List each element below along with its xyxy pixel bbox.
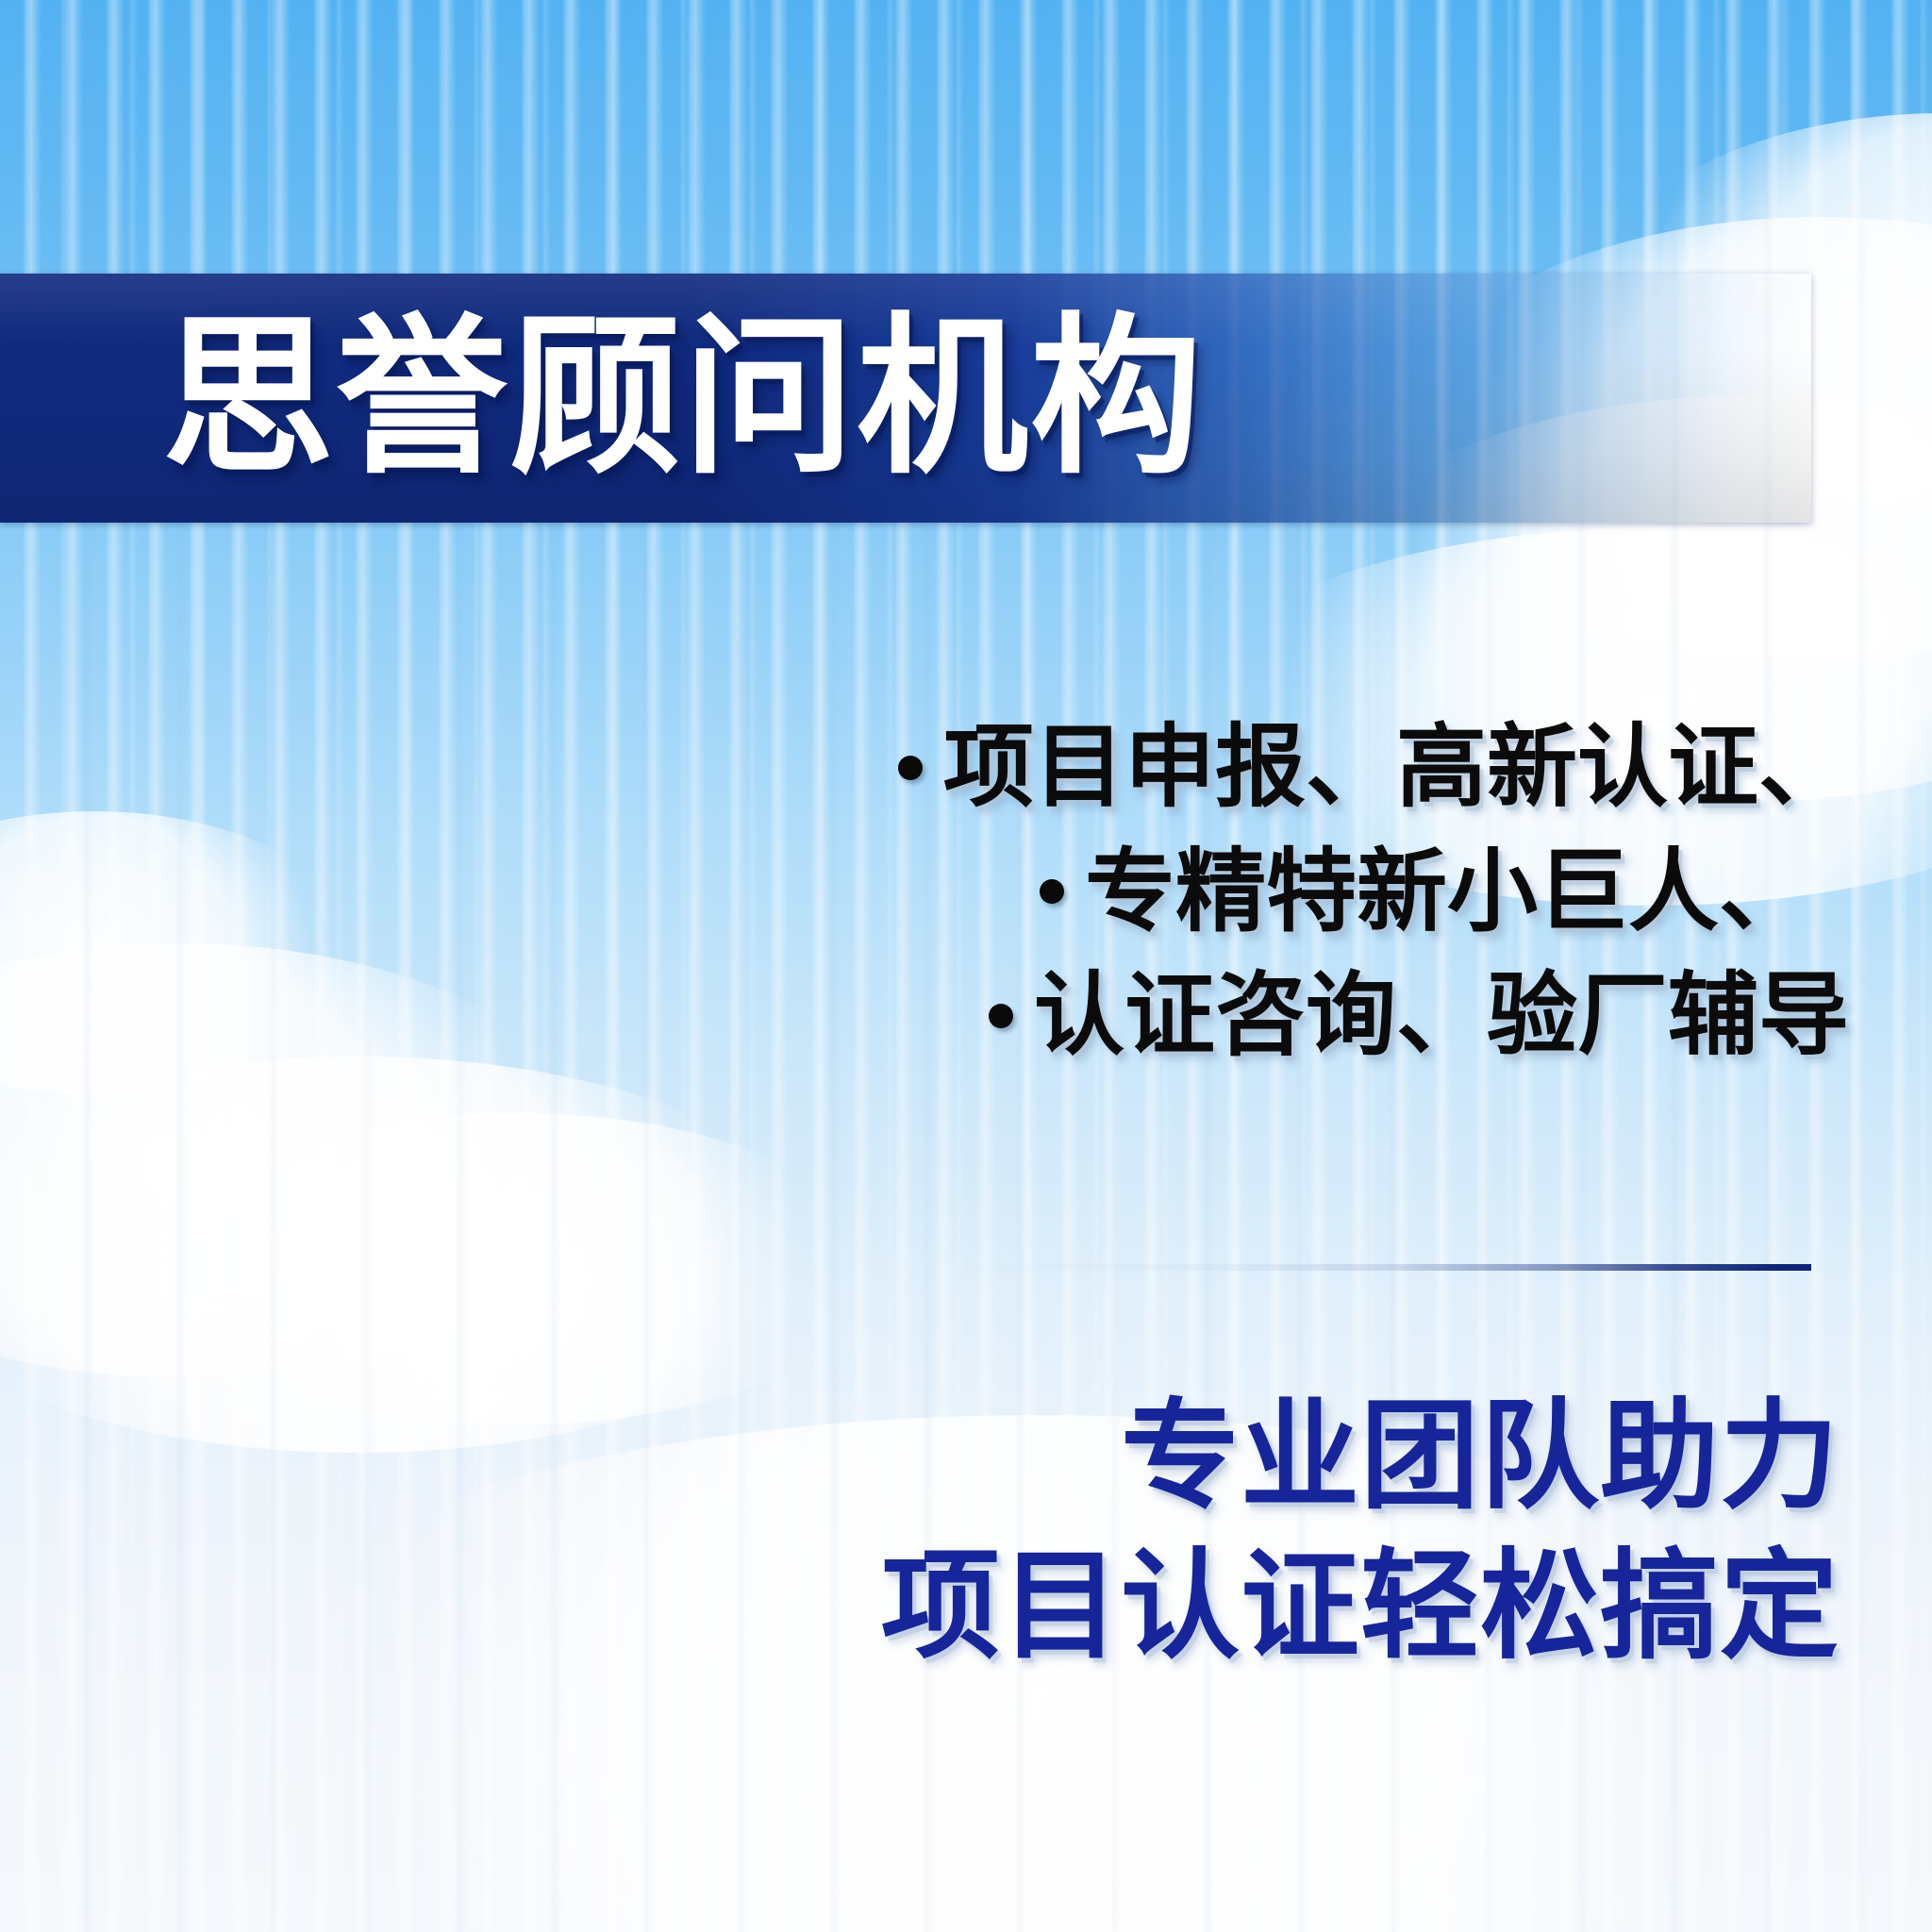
list-item-label: 项目申报、高新认证、 <box>943 717 1849 819</box>
list-item-label: 认证咨询、验厂辅导 <box>1034 965 1849 1067</box>
service-list: 项目申报、高新认证、 专精特新小巨人、 认证咨询、验厂辅导 <box>717 717 1849 1067</box>
cloud-shape <box>160 1113 877 1424</box>
cloud-shape <box>0 811 358 1094</box>
bullet-dot-icon <box>898 756 923 780</box>
slogan-line-2: 项目认证轻松搞定 <box>881 1532 1840 1682</box>
slogan-line-1: 专业团队助力 <box>1121 1382 1840 1532</box>
page-title: 思誉顾问机构 <box>162 279 1294 515</box>
poster-canvas: 思誉顾问机构 项目申报、高新认证、 专精特新小巨人、 认证咨询、验厂辅导 专业团… <box>0 0 1932 1932</box>
slogan-block: 专业团队助力 项目认证轻松搞定 <box>660 1382 1840 1682</box>
bullet-dot-icon <box>1040 879 1064 904</box>
divider <box>943 1264 1811 1271</box>
list-item: 专精特新小巨人、 <box>1040 841 1809 943</box>
list-item: 认证咨询、验厂辅导 <box>989 965 1849 1067</box>
cloud-shape <box>0 943 604 1377</box>
bullet-dot-icon <box>989 1004 1013 1028</box>
list-item-label: 专精特新小巨人、 <box>1085 841 1809 943</box>
list-item: 项目申报、高新认证、 <box>898 717 1849 819</box>
